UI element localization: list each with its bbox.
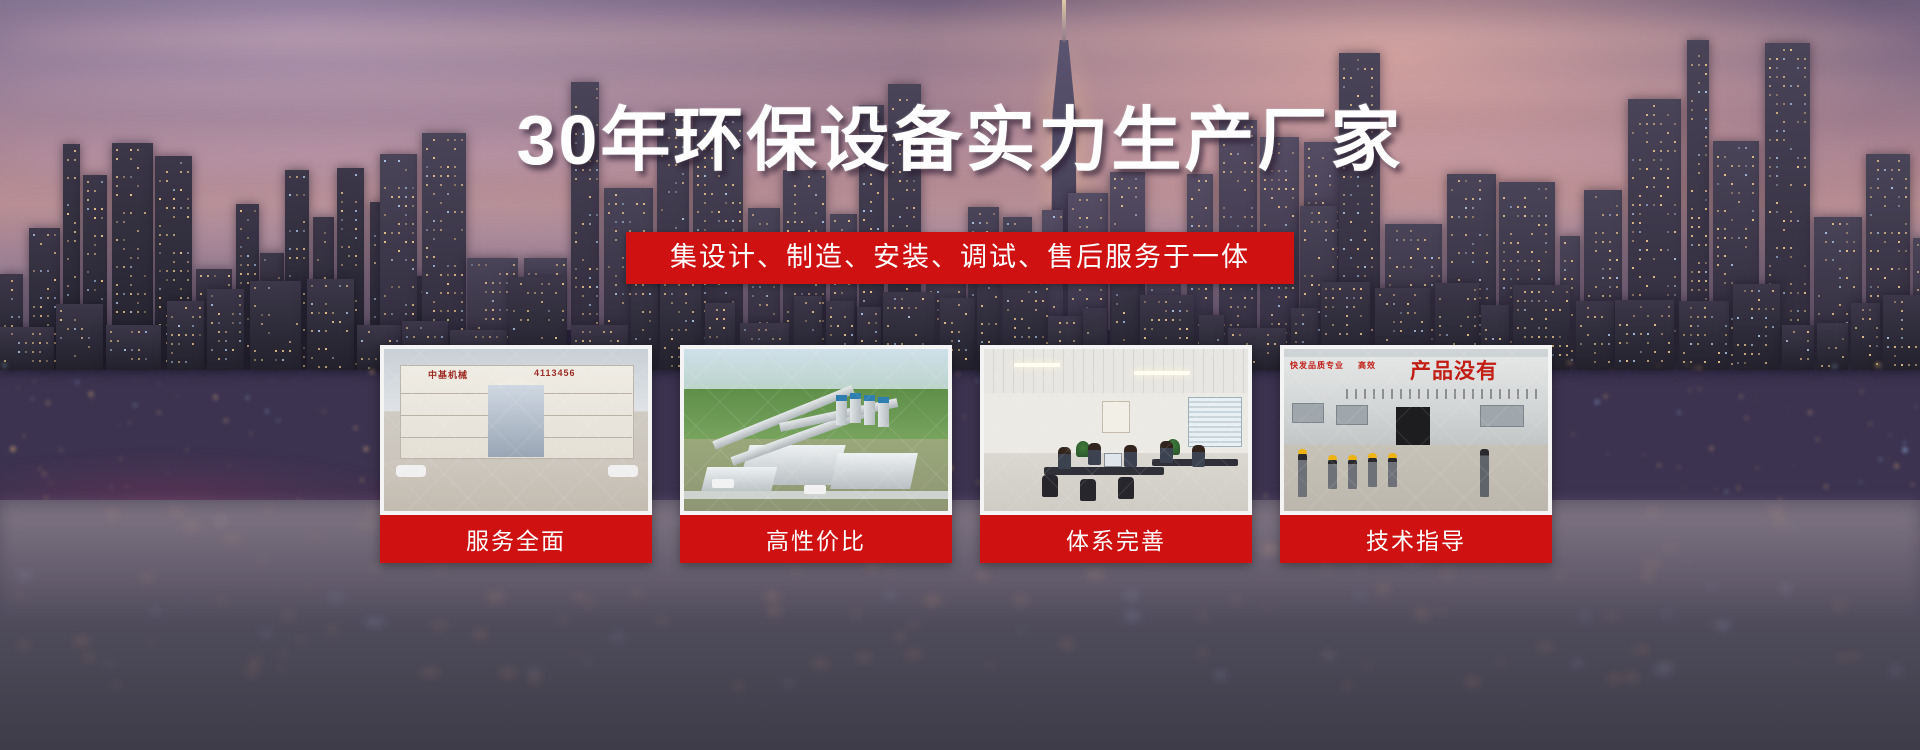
photo-company-name: 中基机械 xyxy=(428,368,468,381)
banner-subtitle: 集设计、制造、安装、调试、售后服务于一体 xyxy=(626,232,1294,284)
card-label: 体系完善 xyxy=(980,515,1252,563)
factory-sign-small-2: 专业 xyxy=(1326,361,1344,371)
factory-sign-main: 产品没有 xyxy=(1410,355,1498,385)
card-photo-factory-workers: 快发品质 专业 高效 产品没有 xyxy=(1284,349,1548,511)
feature-card-list: 中基机械 4113456 服务全面 xyxy=(380,345,1540,563)
card-label: 服务全面 xyxy=(380,515,652,563)
card-photo-office-interior xyxy=(984,349,1248,511)
card-photo-aerial-plant xyxy=(684,349,948,511)
feature-card: 体系完善 xyxy=(980,345,1252,563)
factory-sign-small-3: 高效 xyxy=(1358,361,1376,371)
feature-card[interactable]: 快发品质 专业 高效 产品没有 技术指导 xyxy=(1280,345,1552,563)
feature-card[interactable]: 高性价比 xyxy=(680,345,952,563)
card-photo-office-building: 中基机械 4113456 xyxy=(384,349,648,511)
banner-title: 30年环保设备实力生产厂家 xyxy=(0,105,1920,175)
hero-banner: 30年环保设备实力生产厂家 集设计、制造、安装、调试、售后服务于一体 中基机械 … xyxy=(0,0,1920,750)
factory-sign-small-1: 快发品质 xyxy=(1290,361,1326,371)
banner-subtitle-wrap: 集设计、制造、安装、调试、售后服务于一体 xyxy=(0,232,1920,284)
tower-spire xyxy=(1062,0,1066,42)
card-label: 技术指导 xyxy=(1280,515,1552,563)
feature-card[interactable]: 中基机械 4113456 服务全面 xyxy=(380,345,652,563)
card-label: 高性价比 xyxy=(680,515,952,563)
